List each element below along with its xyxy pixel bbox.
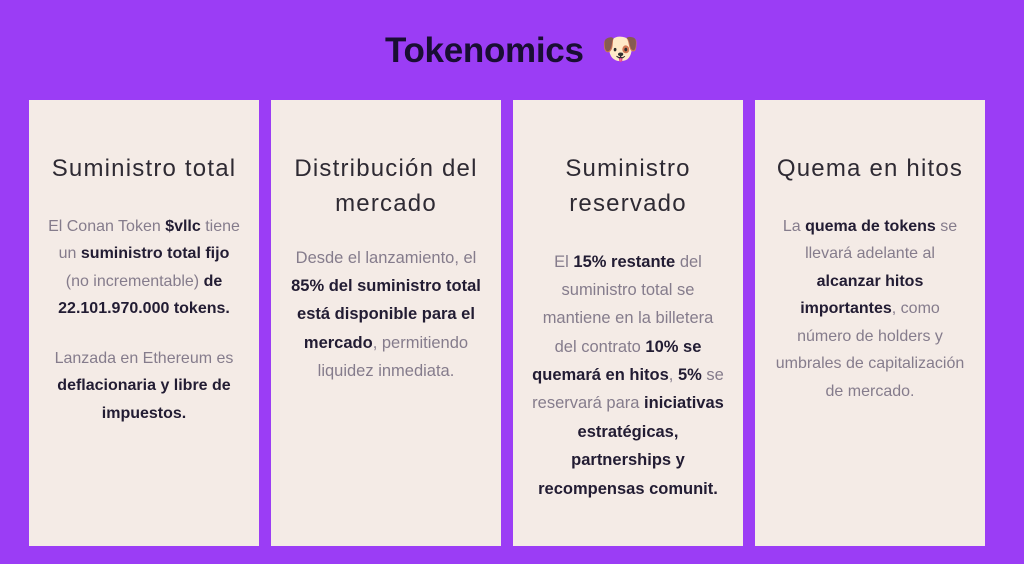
tokenomics-card-list: Suministro total El Conan Token $vllc ti… (29, 100, 985, 546)
body-text: La (783, 218, 805, 235)
dog-face-emoji: 🐶 (602, 35, 639, 65)
body-text: Desde el lanzamiento, el (296, 249, 477, 267)
card-heading: Distribución del mercado (289, 152, 483, 222)
card-paragraph: El 15% restante del suministro total se … (531, 248, 725, 503)
body-text: Lanzada en Ethereum es (55, 350, 234, 367)
emphasis-text: $vllc (165, 218, 201, 235)
card-content: La quema de tokens se llevará adelante a… (773, 213, 967, 406)
emphasis-text: deflacionaria y libre de impuestos. (57, 377, 230, 422)
card-content: El Conan Token $vllc tiene un suministro… (47, 213, 241, 428)
card-paragraph: Lanzada en Ethereum es deflacionaria y l… (47, 345, 241, 428)
card-paragraph: Desde el lanzamiento, el 85% del suminis… (289, 244, 483, 386)
tokenomics-card-quema-en-hitos: Quema en hitos La quema de tokens se lle… (755, 100, 985, 546)
page-title: Tokenomics (385, 33, 584, 68)
body-text: , (669, 366, 678, 384)
tokenomics-card-suministro-total: Suministro total El Conan Token $vllc ti… (29, 100, 259, 546)
page-header: Tokenomics 🐶 (0, 0, 1024, 100)
tokenomics-card-suministro-reservado: Suministro reservado El 15% restante del… (513, 100, 743, 546)
body-text: (no incrementable) (66, 273, 204, 290)
emphasis-text: quema de tokens (805, 218, 936, 235)
emphasis-text: 5% (678, 366, 702, 384)
body-text: El Conan Token (48, 218, 165, 235)
emphasis-text: 15% restante (573, 253, 675, 271)
card-heading: Suministro total (47, 152, 241, 187)
card-content: Desde el lanzamiento, el 85% del suminis… (289, 244, 483, 386)
body-text: El (554, 253, 573, 271)
card-content: El 15% restante del suministro total se … (531, 248, 725, 503)
emphasis-text: suministro total fijo (81, 245, 229, 262)
card-paragraph: El Conan Token $vllc tiene un suministro… (47, 213, 241, 323)
card-heading: Quema en hitos (773, 152, 967, 187)
tokenomics-page: Tokenomics 🐶 Suministro total El Conan T… (0, 0, 1024, 564)
card-paragraph: La quema de tokens se llevará adelante a… (773, 213, 967, 406)
card-heading: Suministro reservado (531, 152, 725, 222)
tokenomics-card-distribucion-del-mercado: Distribución del mercado Desde el lanzam… (271, 100, 501, 546)
